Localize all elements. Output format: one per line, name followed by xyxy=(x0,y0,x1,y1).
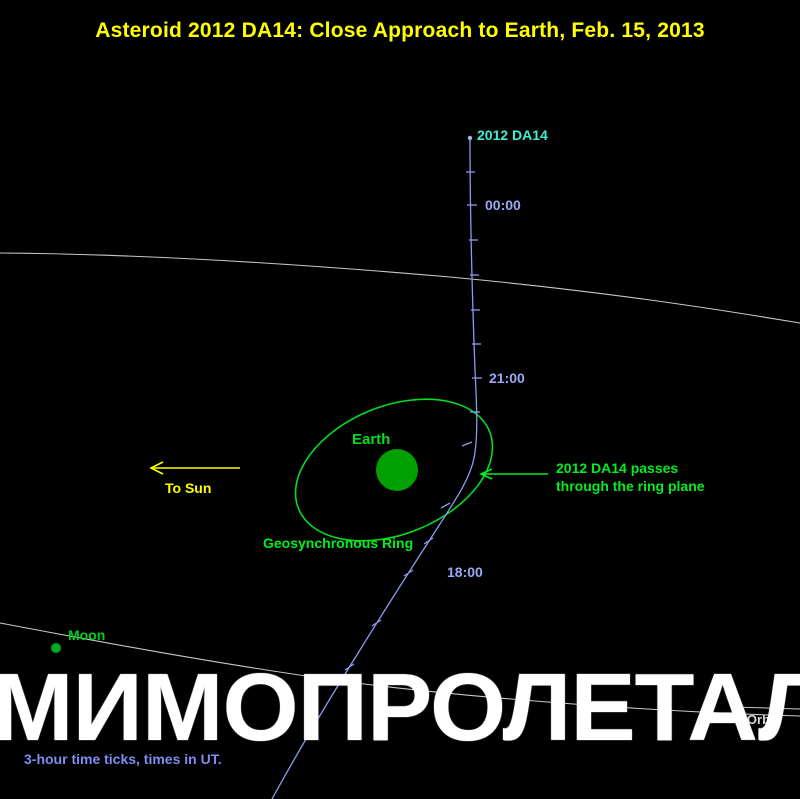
time-label-0000: 00:00 xyxy=(485,198,521,212)
moon-label: Moon xyxy=(68,628,105,642)
asteroid-name-label: 2012 DA14 xyxy=(477,128,548,142)
ring-plane-arrow xyxy=(481,469,548,479)
trajectory-start-dot xyxy=(468,136,472,140)
trajectory-time-ticks xyxy=(345,172,482,670)
ring-plane-annotation: 2012 DA14 passesthrough the ring plane xyxy=(556,460,705,495)
to-sun-arrow xyxy=(151,462,240,474)
moon-orbit-upper-arc xyxy=(0,253,800,323)
geosynchronous-ring-label: Geosynchronous Ring xyxy=(263,536,413,550)
diagram-canvas: Asteroid 2012 DA14: Close Approach to Ea… xyxy=(0,0,800,799)
to-sun-label: To Sun xyxy=(165,481,211,495)
earth-label: Earth xyxy=(352,432,390,447)
page-title: Asteroid 2012 DA14: Close Approach to Ea… xyxy=(0,20,800,41)
overlay-watermark-text: МИМОПРОЛЕТАЛ xyxy=(0,660,800,756)
time-label-1800: 18:00 xyxy=(447,565,483,579)
ring-plane-annotation-line1: 2012 DA14 passes xyxy=(556,460,678,476)
time-label-2100: 21:00 xyxy=(489,371,525,385)
ring-plane-annotation-line2: through the ring plane xyxy=(556,478,705,494)
earth-disc xyxy=(376,449,418,491)
moon-dot xyxy=(51,643,61,653)
